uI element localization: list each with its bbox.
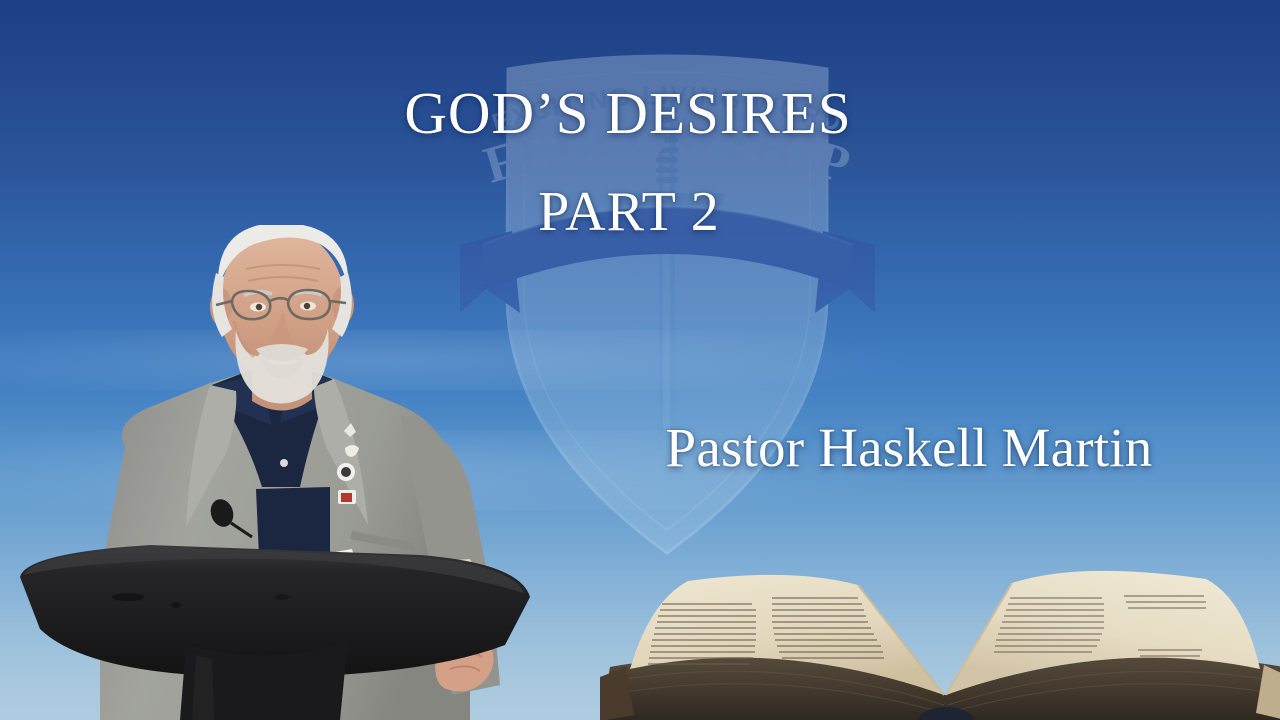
- slide-canvas: EXCITING LIVING WORD FELLOWSHIP: [0, 0, 1280, 720]
- speaker-photo: [0, 225, 620, 720]
- page-title-line-1: GOD’S DESIRES: [0, 84, 1268, 143]
- open-bible-photo: [600, 545, 1280, 720]
- page-title-line-2: PART 2: [0, 184, 1269, 240]
- speaker-name: Pastor Haskell Martin: [613, 420, 1205, 475]
